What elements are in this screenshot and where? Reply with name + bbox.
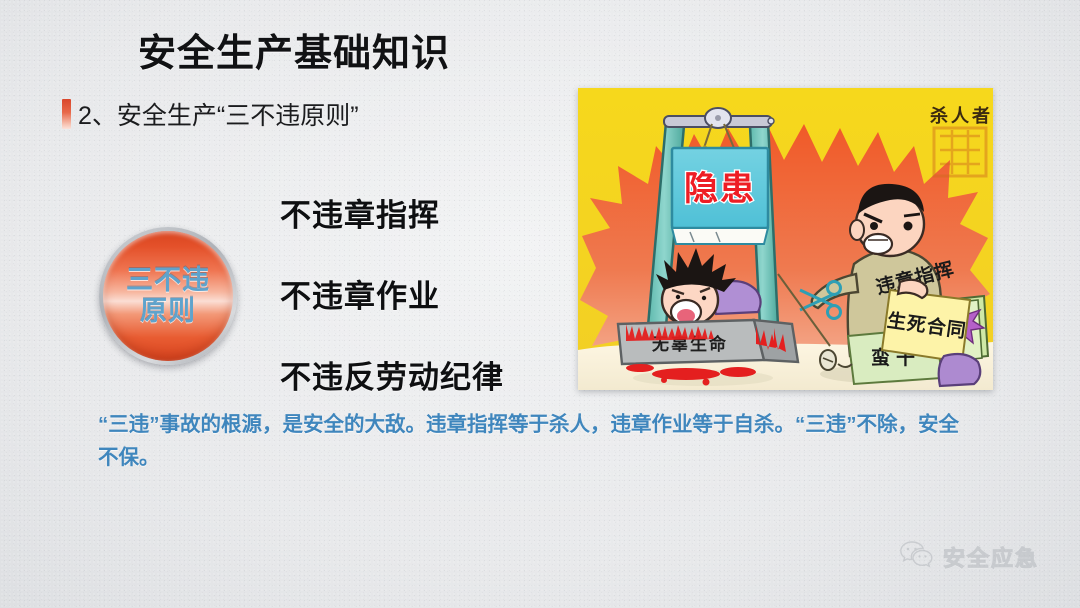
slide-canvas: 安全生产基础知识 2、 安全生产“三不违原则” 三不违 原则 不违章指挥 不违章… [0,0,1080,608]
badge-line-2: 原则 [140,296,196,327]
section-heading-number: 2、 [78,96,117,132]
three-no-violations-badge: 三不违 原则 [99,227,237,365]
illustration-svg: 隐患 无辜生命 [578,88,993,390]
badge-face: 三不违 原则 [103,231,233,361]
principles-list: 不违章指挥 不违章作业 不违反劳动纪律 [280,190,504,397]
killer-label: 杀人者 [930,105,993,127]
badge-line-1: 三不违 [126,265,210,296]
accent-bar-icon [62,99,71,129]
illustration-image: 隐患 无辜生命 [578,88,993,390]
section-heading: 2、 安全生产“三不违原则” [62,96,359,132]
wechat-icon [900,540,934,573]
purple-bag [939,354,981,386]
caption-text: “三违”事故的根源，是安全的大敌。违章指挥等于杀人，违章作业等于自杀。“三违”不… [98,408,978,474]
watermark: 安全应急 [900,540,1039,573]
principle-item-2: 不违章作业 [280,271,504,316]
hazard-sign-label: 隐患 [684,169,756,209]
principle-item-1: 不违章指挥 [280,190,504,235]
page-title: 安全生产基础知识 [138,22,450,77]
principle-item-3: 不违反劳动纪律 [280,352,504,397]
watermark-text: 安全应急 [943,541,1039,573]
killer-mouth [864,234,892,254]
section-heading-label: 安全生产“三不违原则” [117,96,359,132]
